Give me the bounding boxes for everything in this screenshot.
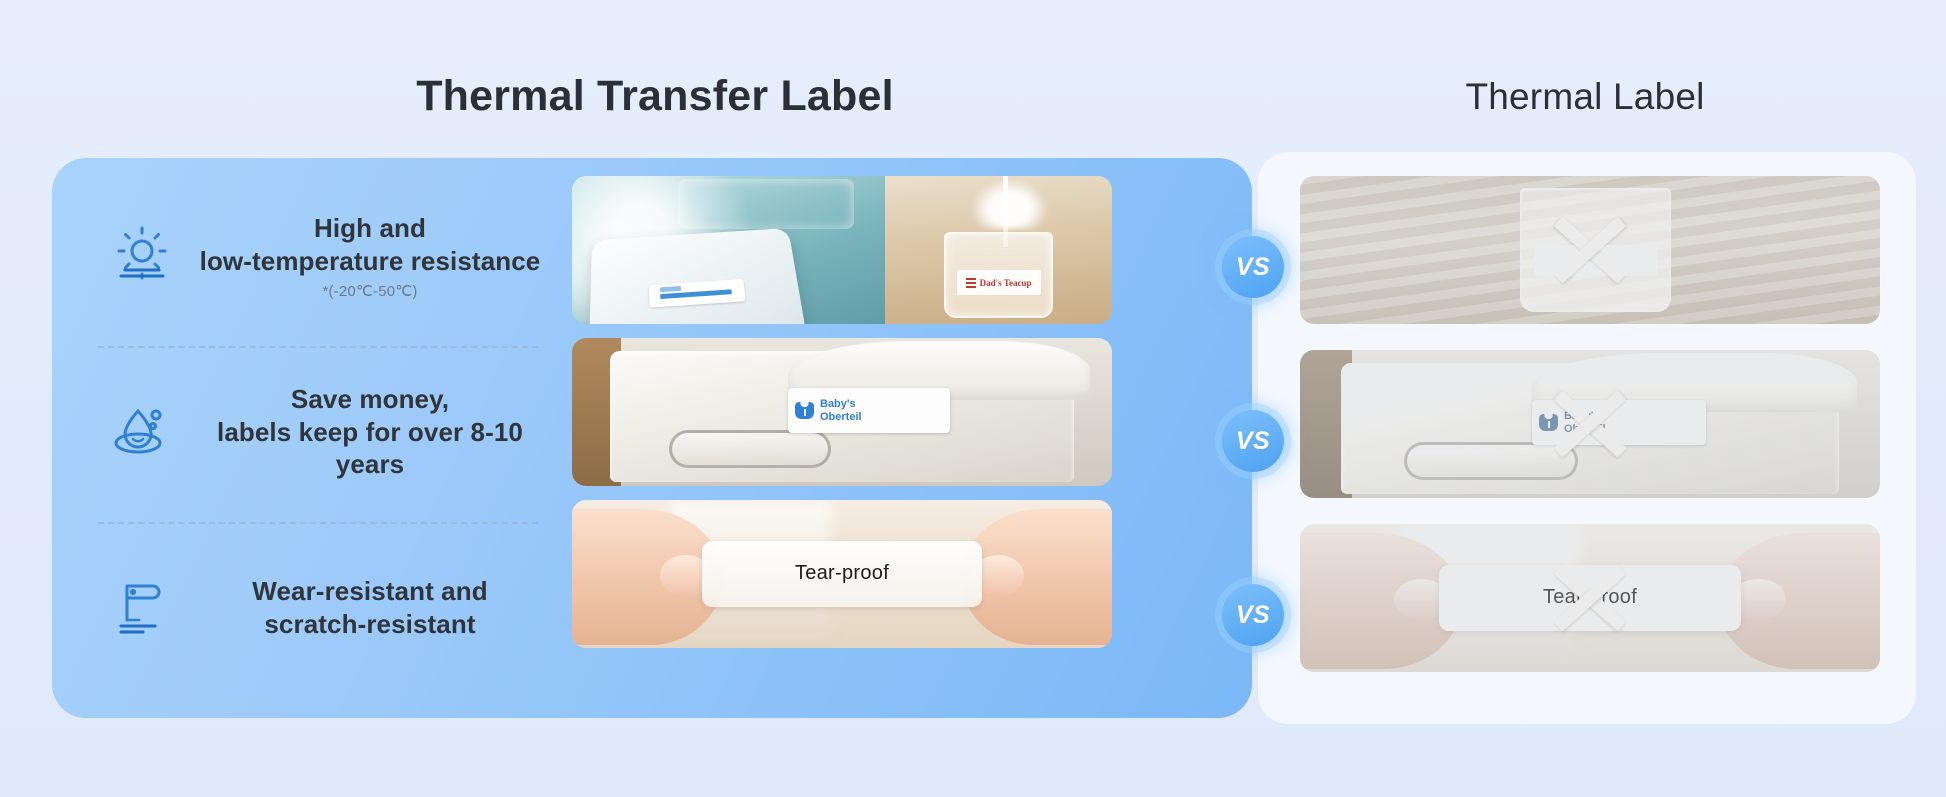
- water-glass: [1520, 188, 1671, 312]
- feature-title-line1: High and: [196, 212, 544, 245]
- page-title-thermal-label: Thermal Label: [1255, 76, 1915, 118]
- thermal-transfer-label-panel: High and low-temperature resistance *(-2…: [52, 158, 1252, 718]
- steam-puff: [971, 179, 1048, 229]
- feature-title-line2: low-temperature resistance: [196, 245, 544, 278]
- baby-onesie-icon: [1539, 414, 1558, 431]
- hot-teacup-side: Dad's Teacup: [885, 176, 1112, 324]
- feature-title-line2: scratch-resistant: [196, 608, 544, 641]
- headings-row: Thermal Transfer Label Thermal Label: [0, 0, 1946, 150]
- feature-row-durability-years: Save money, labels keep for over 8-10 ye…: [52, 348, 572, 516]
- feature-title-line1: Save money,: [196, 383, 544, 416]
- photo-tear-test: Tear-proof: [572, 500, 1112, 648]
- drawer-handle: [1404, 442, 1578, 480]
- drawer-handle: [669, 430, 831, 468]
- scene-hands-stretching-label: Tear-proof: [572, 500, 1112, 648]
- left-hand: [572, 509, 723, 645]
- feature-text-wear-resistance: Wear-resistant and scratch-resistant: [196, 575, 572, 641]
- photo-freezer-and-teacup: Dad's Teacup: [572, 176, 1112, 324]
- left-hand: [1300, 533, 1462, 669]
- feature-row-temperature-resistance: High and low-temperature resistance *(-2…: [52, 172, 572, 340]
- feature-row-wear-resistance: Wear-resistant and scratch-resistant: [52, 524, 572, 692]
- vs-badge-row-3: VS: [1222, 584, 1284, 646]
- water-droplet-icon: [88, 392, 196, 472]
- drawer-label-line2: Oberteil: [1564, 423, 1606, 435]
- faded-glass-label: [1534, 245, 1657, 276]
- vs-badge-row-2: VS: [1222, 410, 1284, 472]
- feature-title-line2: labels keep for over 8-10 years: [196, 416, 544, 482]
- frozen-berries: [678, 179, 853, 229]
- scene-glass-on-table: [1300, 176, 1880, 324]
- freezer-side: [572, 176, 885, 324]
- feature-title-line1: Wear-resistant and: [196, 575, 544, 608]
- teacup-glass: Dad's Teacup: [944, 232, 1053, 318]
- drawer-label-sticker: Baby's Oberteil: [788, 388, 950, 432]
- photo-thermal-drawer-failed: Baby's Oberteil: [1300, 350, 1880, 498]
- drawer-label-line1: Baby's: [1564, 410, 1600, 422]
- faded-drawer-label: Baby's Oberteil: [1532, 400, 1706, 444]
- scene-drawer-faded: Baby's Oberteil: [1300, 350, 1880, 498]
- feature-text-temperature-resistance: High and low-temperature resistance *(-2…: [196, 212, 572, 301]
- teacup-label-sticker: Dad's Teacup: [957, 270, 1041, 295]
- thermal-label-panel: Baby's Oberteil Tear-proof: [1258, 152, 1916, 724]
- baby-onesie-icon: [795, 402, 814, 419]
- label-scraper-icon: [88, 568, 196, 648]
- feature-subtitle-temperature-range: *(-20℃-50℃): [196, 282, 544, 300]
- vs-badge-row-1: VS: [1222, 236, 1284, 298]
- tear-proof-label: Tear-proof: [702, 541, 983, 606]
- teacup-label-mark-icon: [966, 278, 976, 288]
- drawer-label-line2: Oberteil: [820, 411, 862, 423]
- feature-text-durability-years: Save money, labels keep for over 8-10 ye…: [196, 383, 572, 481]
- right-hand: [961, 509, 1112, 645]
- scene-freezer-teacup: Dad's Teacup: [572, 176, 1112, 324]
- food-container: [589, 228, 807, 324]
- drawer-label-text: Baby's Oberteil: [820, 398, 862, 423]
- drawer-label-line1: Baby's: [820, 398, 856, 410]
- scene-hands-faded: Tear-proof: [1300, 524, 1880, 672]
- teacup-label-text: Dad's Teacup: [980, 278, 1032, 288]
- sun-temperature-icon: [88, 216, 196, 296]
- photo-storage-drawer: Baby's Oberteil: [572, 338, 1112, 486]
- faded-drawer-label-text: Baby's Oberteil: [1564, 410, 1606, 435]
- page-title-thermal-transfer-label: Thermal Transfer Label: [55, 72, 1255, 121]
- photo-thermal-tear-failed: Tear-proof: [1300, 524, 1880, 672]
- right-hand: [1718, 533, 1880, 669]
- photo-thermal-glass-failed: [1300, 176, 1880, 324]
- faded-tear-proof-label: Tear-proof: [1439, 565, 1741, 630]
- feature-list: High and low-temperature resistance *(-2…: [52, 158, 572, 718]
- container-label-sticker: [649, 279, 746, 308]
- scene-drawer: Baby's Oberteil: [572, 338, 1112, 486]
